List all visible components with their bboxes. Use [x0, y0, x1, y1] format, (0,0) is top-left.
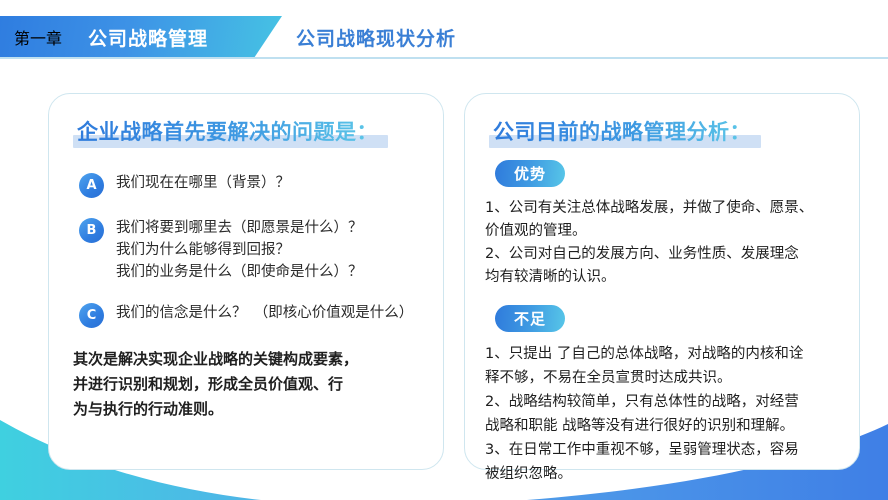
paragraph-line: 2、战略结构较简单，只有总体性的战略，对经营 — [485, 390, 841, 414]
section-header-weaknesses: 不足 — [495, 305, 841, 332]
status-badge-strengths: 优势 — [495, 160, 565, 187]
item-line: 我们的信念是什么？ （即核心价值观是什么） — [116, 302, 413, 324]
closing-line: 并进行识别和规划，形成全员价值观、行 — [73, 372, 403, 397]
slide-root: 第一章 公司战略管理 公司战略现状分析 企业战略首先要解决的问题是： A 我们现… — [0, 0, 888, 500]
paragraph-line: 价值观的管理。 — [485, 220, 841, 243]
left-card-title-wrap: 企业战略首先要解决的问题是： — [77, 116, 378, 146]
paragraph-line: 战略和职能 战略等没有进行很好的识别和理解。 — [485, 414, 841, 438]
card-strategy-analysis: 公司目前的战略管理分析： 优势 1、公司有关注总体战略发展，并做了使命、愿景、 … — [464, 93, 860, 470]
closing-line: 其次是解决实现企业战略的关键构成要素， — [73, 347, 403, 372]
strengths-paragraph: 1、公司有关注总体战略发展，并做了使命、愿景、 价值观的管理。 2、公司对自己的… — [485, 197, 841, 289]
header-subtitle: 公司战略现状分析 — [296, 16, 456, 58]
item-badge-a: A — [79, 173, 104, 198]
item-badge-c: C — [79, 303, 104, 328]
item-line: 我们的业务是什么（即使命是什么）？ — [116, 261, 363, 283]
question-list: A 我们现在在哪里（背景）？ B 我们将要到哪里去（即愿景是什么）？ 我们为什么… — [67, 172, 425, 328]
item-text-c: 我们的信念是什么？ （即核心价值观是什么） — [116, 302, 413, 324]
list-item: B 我们将要到哪里去（即愿景是什么）？ 我们为什么能够得到回报？ 我们的业务是什… — [79, 217, 425, 283]
item-text-b: 我们将要到哪里去（即愿景是什么）？ 我们为什么能够得到回报？ 我们的业务是什么（… — [116, 217, 363, 283]
section-header-strengths: 优势 — [495, 160, 841, 187]
header-chapter-label: 第一章 — [14, 25, 62, 49]
card-strategy-questions: 企业战略首先要解决的问题是： A 我们现在在哪里（背景）？ B 我们将要到哪里去… — [48, 93, 444, 470]
item-line: 我们现在在哪里（背景）？ — [116, 172, 290, 194]
left-card-title: 企业战略首先要解决的问题是： — [77, 120, 378, 144]
right-card-title-wrap: 公司目前的战略管理分析： — [493, 116, 751, 146]
list-item: C 我们的信念是什么？ （即核心价值观是什么） — [79, 302, 425, 328]
content-cards: 企业战略首先要解决的问题是： A 我们现在在哪里（背景）？ B 我们将要到哪里去… — [0, 0, 888, 500]
paragraph-line: 释不够，不易在全员宣贯时达成共识。 — [485, 366, 841, 390]
closing-line: 为与执行的行动准则。 — [73, 397, 403, 422]
list-item: A 我们现在在哪里（背景）？ — [79, 172, 425, 198]
header-divider — [0, 57, 888, 59]
item-text-a: 我们现在在哪里（背景）？ — [116, 172, 290, 194]
header-chapter-chip: 第一章 公司战略管理 — [0, 16, 282, 58]
paragraph-line: 1、只提出 了自己的总体战略，对战略的内核和诠 — [485, 342, 841, 366]
item-line: 我们为什么能够得到回报？ — [116, 239, 363, 261]
left-card-closing-paragraph: 其次是解决实现企业战略的关键构成要素， 并进行识别和规划，形成全员价值观、行 为… — [67, 347, 403, 422]
paragraph-line: 被组织忽略。 — [485, 462, 841, 486]
item-line: 我们将要到哪里去（即愿景是什么）？ — [116, 217, 363, 239]
header-topic-label: 公司战略管理 — [88, 24, 208, 51]
status-badge-weaknesses: 不足 — [495, 305, 565, 332]
paragraph-line: 均有较清晰的认识。 — [485, 266, 841, 289]
weaknesses-paragraph: 1、只提出 了自己的总体战略，对战略的内核和诠 释不够，不易在全员宣贯时达成共识… — [485, 342, 841, 486]
right-card-title: 公司目前的战略管理分析： — [493, 120, 751, 144]
item-badge-b: B — [79, 218, 104, 243]
paragraph-line: 1、公司有关注总体战略发展，并做了使命、愿景、 — [485, 197, 841, 220]
paragraph-line: 2、公司对自己的发展方向、业务性质、发展理念 — [485, 243, 841, 266]
paragraph-line: 3、在日常工作中重视不够，呈弱管理状态，容易 — [485, 438, 841, 462]
slide-header: 第一章 公司战略管理 公司战略现状分析 — [0, 16, 888, 58]
